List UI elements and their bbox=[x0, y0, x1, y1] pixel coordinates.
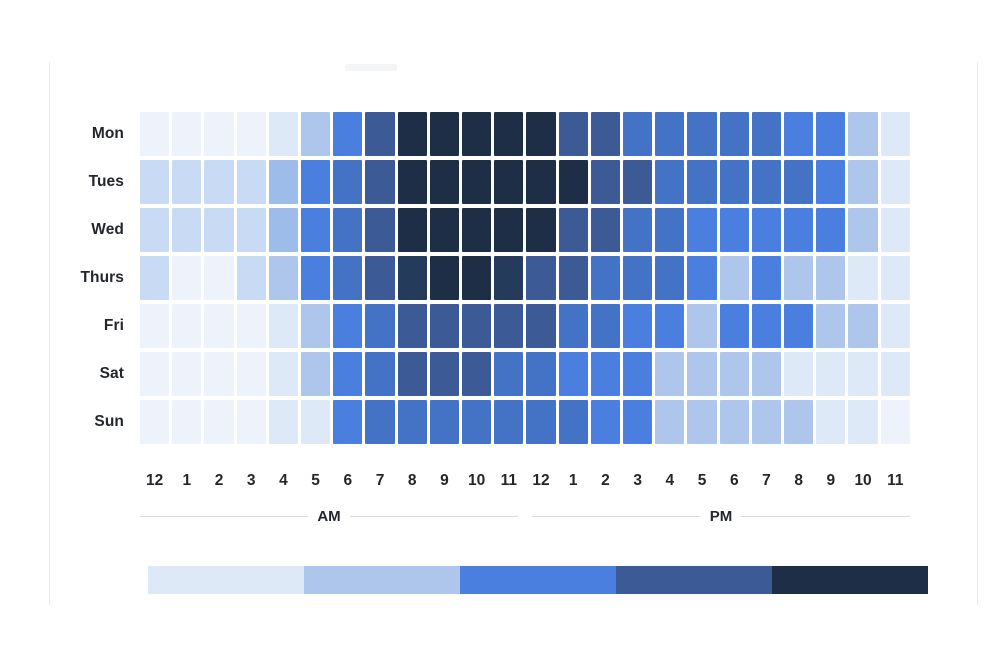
heatmap-cell[interactable] bbox=[784, 256, 813, 300]
heatmap-cell[interactable] bbox=[526, 304, 555, 348]
heatmap-cell[interactable] bbox=[269, 256, 298, 300]
heatmap-cell[interactable] bbox=[430, 400, 459, 444]
heatmap-cell[interactable] bbox=[494, 208, 523, 252]
hour-axis: 121234567891011121234567891011 bbox=[140, 472, 910, 490]
heatmap-cell[interactable] bbox=[559, 160, 588, 204]
heatmap-cell[interactable] bbox=[559, 304, 588, 348]
heatmap-cell[interactable] bbox=[848, 112, 877, 156]
legend-band-3 bbox=[460, 566, 616, 594]
heatmap-cell[interactable] bbox=[752, 112, 781, 156]
heatmap-cell[interactable] bbox=[655, 256, 684, 300]
hour-tick-label: 1 bbox=[172, 472, 201, 490]
day-label-mon: Mon bbox=[78, 126, 140, 142]
heatmap-cell[interactable] bbox=[720, 352, 749, 396]
heatmap-cell[interactable] bbox=[237, 256, 266, 300]
heatmap-cell[interactable] bbox=[655, 160, 684, 204]
heatmap-cell[interactable] bbox=[655, 304, 684, 348]
heatmap-cell[interactable] bbox=[172, 256, 201, 300]
heatmap-cell[interactable] bbox=[881, 304, 910, 348]
meridiem-group-pm: PM bbox=[532, 508, 910, 525]
heatmap-cell[interactable] bbox=[784, 160, 813, 204]
heatmap-cell[interactable] bbox=[237, 304, 266, 348]
heatmap-cell[interactable] bbox=[687, 304, 716, 348]
heatmap-cell[interactable] bbox=[462, 304, 491, 348]
heatmap-cell[interactable] bbox=[623, 112, 652, 156]
legend-band-4 bbox=[616, 566, 772, 594]
heatmap-cell[interactable] bbox=[591, 256, 620, 300]
heatmap-cell[interactable] bbox=[140, 160, 169, 204]
day-label-sun: Sun bbox=[78, 414, 140, 430]
heatmap-cell[interactable] bbox=[140, 352, 169, 396]
heatmap-cell[interactable] bbox=[591, 304, 620, 348]
heatmap-cell[interactable] bbox=[204, 400, 233, 444]
heatmap-cell[interactable] bbox=[204, 304, 233, 348]
legend-band-1 bbox=[148, 566, 304, 594]
heatmap-cell[interactable] bbox=[526, 160, 555, 204]
hour-tick-label: 4 bbox=[269, 472, 298, 490]
heatmap-cell[interactable] bbox=[204, 160, 233, 204]
heatmap-cell[interactable] bbox=[430, 352, 459, 396]
meridiem-rule-right bbox=[350, 516, 518, 517]
heatmap-cell[interactable] bbox=[204, 352, 233, 396]
heatmap-row-cells bbox=[140, 400, 910, 444]
day-label-fri: Fri bbox=[78, 318, 140, 334]
heatmap-row: Thurs bbox=[78, 254, 910, 302]
heatmap-cell[interactable] bbox=[301, 256, 330, 300]
day-label-tues: Tues bbox=[78, 174, 140, 190]
heatmap-row: Sun bbox=[78, 398, 910, 446]
heatmap-cell[interactable] bbox=[655, 208, 684, 252]
hour-tick-label: 10 bbox=[848, 472, 877, 490]
heatmap-cell[interactable] bbox=[333, 160, 362, 204]
hour-tick-label: 8 bbox=[398, 472, 427, 490]
hour-tick-label: 4 bbox=[655, 472, 684, 490]
heatmap-cell[interactable] bbox=[398, 160, 427, 204]
heatmap-cell[interactable] bbox=[301, 208, 330, 252]
heatmap-cell[interactable] bbox=[848, 160, 877, 204]
heatmap-cell[interactable] bbox=[623, 352, 652, 396]
heatmap-cell[interactable] bbox=[333, 352, 362, 396]
hour-tick-label: 8 bbox=[784, 472, 813, 490]
heatmap-cell[interactable] bbox=[301, 352, 330, 396]
color-scale-legend bbox=[148, 566, 928, 594]
heatmap-cell[interactable] bbox=[623, 304, 652, 348]
heatmap-cell[interactable] bbox=[140, 400, 169, 444]
heatmap-cell[interactable] bbox=[720, 160, 749, 204]
heatmap-cell[interactable] bbox=[494, 256, 523, 300]
meridiem-group-am: AM bbox=[140, 508, 518, 525]
heatmap-cell[interactable] bbox=[333, 256, 362, 300]
heatmap-cell[interactable] bbox=[559, 208, 588, 252]
heatmap-cell[interactable] bbox=[365, 256, 394, 300]
heatmap-cell[interactable] bbox=[816, 112, 845, 156]
hour-tick-label: 9 bbox=[430, 472, 459, 490]
heatmap-cell[interactable] bbox=[365, 112, 394, 156]
heatmap-cell[interactable] bbox=[559, 352, 588, 396]
heatmap-row: Sat bbox=[78, 350, 910, 398]
hour-tick-label: 3 bbox=[623, 472, 652, 490]
heatmap-cell[interactable] bbox=[172, 304, 201, 348]
heatmap-cell[interactable] bbox=[848, 352, 877, 396]
heatmap-cell[interactable] bbox=[398, 304, 427, 348]
heatmap-cell[interactable] bbox=[881, 352, 910, 396]
heatmap-cell[interactable] bbox=[269, 112, 298, 156]
heatmap-cell[interactable] bbox=[398, 112, 427, 156]
heatmap-cell[interactable] bbox=[494, 112, 523, 156]
heatmap-cell[interactable] bbox=[752, 352, 781, 396]
heatmap-cell[interactable] bbox=[784, 400, 813, 444]
heatmap-cell[interactable] bbox=[559, 256, 588, 300]
heatmap-cell[interactable] bbox=[301, 400, 330, 444]
meridiem-rule-right bbox=[741, 516, 910, 517]
heatmap-cell[interactable] bbox=[623, 400, 652, 444]
heatmap-cell[interactable] bbox=[848, 304, 877, 348]
heatmap-row-cells bbox=[140, 256, 910, 300]
heatmap-cell[interactable] bbox=[784, 304, 813, 348]
heatmap-cell[interactable] bbox=[591, 352, 620, 396]
heatmap-cell[interactable] bbox=[172, 160, 201, 204]
heatmap-cell[interactable] bbox=[398, 208, 427, 252]
heatmap-cell[interactable] bbox=[720, 208, 749, 252]
heatmap-cell[interactable] bbox=[687, 400, 716, 444]
heatmap-cell[interactable] bbox=[333, 304, 362, 348]
heatmap-cell[interactable] bbox=[526, 256, 555, 300]
heatmap-cell[interactable] bbox=[494, 304, 523, 348]
day-label-sat: Sat bbox=[78, 366, 140, 382]
heatmap-cell[interactable] bbox=[237, 208, 266, 252]
heatmap-cell[interactable] bbox=[784, 352, 813, 396]
heatmap-cell[interactable] bbox=[655, 112, 684, 156]
heatmap-cell[interactable] bbox=[269, 400, 298, 444]
heatmap-cell[interactable] bbox=[301, 304, 330, 348]
heatmap-cell[interactable] bbox=[398, 256, 427, 300]
heatmap-cell[interactable] bbox=[140, 256, 169, 300]
heatmap-grid: MonTuesWedThursFriSatSun bbox=[78, 110, 910, 446]
day-label-wed: Wed bbox=[78, 222, 140, 238]
heatmap-cell[interactable] bbox=[462, 352, 491, 396]
heatmap-page: MonTuesWedThursFriSatSun 121234567891011… bbox=[0, 0, 1000, 670]
hour-tick-label: 11 bbox=[494, 472, 523, 490]
meridiem-rule-left bbox=[140, 516, 308, 517]
meridiem-axis: AM PM bbox=[140, 508, 910, 525]
heatmap-cell[interactable] bbox=[687, 208, 716, 252]
heatmap-cell[interactable] bbox=[269, 352, 298, 396]
heatmap-cell[interactable] bbox=[816, 400, 845, 444]
heatmap-cell[interactable] bbox=[752, 160, 781, 204]
heatmap-cell[interactable] bbox=[237, 160, 266, 204]
heatmap-cell[interactable] bbox=[559, 400, 588, 444]
hour-tick-label: 6 bbox=[720, 472, 749, 490]
hour-tick-label: 2 bbox=[204, 472, 233, 490]
heatmap-cell[interactable] bbox=[269, 208, 298, 252]
heatmap-row-cells bbox=[140, 208, 910, 252]
heatmap-cell[interactable] bbox=[687, 352, 716, 396]
heatmap-cell[interactable] bbox=[720, 112, 749, 156]
heatmap-cell[interactable] bbox=[881, 400, 910, 444]
heatmap-cell[interactable] bbox=[881, 112, 910, 156]
heatmap-cell[interactable] bbox=[816, 160, 845, 204]
heatmap-cell[interactable] bbox=[462, 256, 491, 300]
heatmap-cell[interactable] bbox=[462, 208, 491, 252]
heatmap-cell[interactable] bbox=[237, 352, 266, 396]
heatmap-cell[interactable] bbox=[398, 400, 427, 444]
heatmap-cell[interactable] bbox=[526, 112, 555, 156]
hour-tick-label: 3 bbox=[237, 472, 266, 490]
heatmap-cell[interactable] bbox=[687, 160, 716, 204]
heatmap-cell[interactable] bbox=[848, 256, 877, 300]
heatmap-cell[interactable] bbox=[333, 112, 362, 156]
heatmap-cell[interactable] bbox=[301, 160, 330, 204]
day-label-thurs: Thurs bbox=[78, 270, 140, 286]
heatmap-cell[interactable] bbox=[784, 208, 813, 252]
hour-tick-label: 11 bbox=[881, 472, 910, 490]
heatmap-cell[interactable] bbox=[816, 208, 845, 252]
heatmap-cell[interactable] bbox=[430, 256, 459, 300]
heatmap-cell[interactable] bbox=[365, 352, 394, 396]
heatmap-cell[interactable] bbox=[623, 208, 652, 252]
heatmap-cell[interactable] bbox=[559, 112, 588, 156]
heatmap-cell[interactable] bbox=[752, 208, 781, 252]
heatmap-cell[interactable] bbox=[269, 160, 298, 204]
hour-tick-label: 10 bbox=[462, 472, 491, 490]
heatmap-cell[interactable] bbox=[333, 400, 362, 444]
heatmap-cell[interactable] bbox=[301, 112, 330, 156]
heatmap-cell[interactable] bbox=[752, 400, 781, 444]
heatmap-cell[interactable] bbox=[526, 352, 555, 396]
hour-tick-label: 2 bbox=[591, 472, 620, 490]
hour-tick-label: 5 bbox=[687, 472, 716, 490]
heatmap-cell[interactable] bbox=[172, 112, 201, 156]
heatmap-cell[interactable] bbox=[140, 208, 169, 252]
heatmap-cell[interactable] bbox=[365, 304, 394, 348]
heatmap-cell[interactable] bbox=[687, 112, 716, 156]
hour-tick-label: 7 bbox=[365, 472, 394, 490]
heatmap-cell[interactable] bbox=[591, 160, 620, 204]
heatmap-cell[interactable] bbox=[784, 112, 813, 156]
heatmap-cell[interactable] bbox=[816, 256, 845, 300]
activity-heatmap-chart: MonTuesWedThursFriSatSun 121234567891011… bbox=[0, 0, 1000, 670]
heatmap-cell[interactable] bbox=[172, 352, 201, 396]
heatmap-row-cells bbox=[140, 304, 910, 348]
heatmap-cell[interactable] bbox=[494, 352, 523, 396]
heatmap-cell[interactable] bbox=[462, 112, 491, 156]
heatmap-cell[interactable] bbox=[591, 112, 620, 156]
hour-tick-label: 12 bbox=[140, 472, 169, 490]
heatmap-row: Mon bbox=[78, 110, 910, 158]
heatmap-cell[interactable] bbox=[430, 112, 459, 156]
heatmap-cell[interactable] bbox=[269, 304, 298, 348]
heatmap-cell[interactable] bbox=[591, 208, 620, 252]
heatmap-cell[interactable] bbox=[462, 400, 491, 444]
heatmap-row: Tues bbox=[78, 158, 910, 206]
heatmap-cell[interactable] bbox=[430, 208, 459, 252]
heatmap-cell[interactable] bbox=[687, 256, 716, 300]
heatmap-row-cells bbox=[140, 112, 910, 156]
heatmap-cell[interactable] bbox=[172, 400, 201, 444]
heatmap-cell[interactable] bbox=[623, 256, 652, 300]
heatmap-cell[interactable] bbox=[655, 400, 684, 444]
heatmap-cell[interactable] bbox=[752, 256, 781, 300]
heatmap-cell[interactable] bbox=[365, 400, 394, 444]
heatmap-cell[interactable] bbox=[526, 400, 555, 444]
legend-band-5 bbox=[772, 566, 928, 594]
heatmap-cell[interactable] bbox=[494, 400, 523, 444]
hour-tick-label: 7 bbox=[752, 472, 781, 490]
heatmap-cell[interactable] bbox=[462, 160, 491, 204]
legend-band-2 bbox=[304, 566, 460, 594]
heatmap-cell[interactable] bbox=[848, 400, 877, 444]
heatmap-cell[interactable] bbox=[720, 304, 749, 348]
heatmap-cell[interactable] bbox=[881, 208, 910, 252]
heatmap-cell[interactable] bbox=[430, 304, 459, 348]
meridiem-label-pm: PM bbox=[710, 508, 733, 525]
heatmap-cell[interactable] bbox=[140, 304, 169, 348]
hour-tick-label: 9 bbox=[816, 472, 845, 490]
heatmap-cell[interactable] bbox=[881, 160, 910, 204]
meridiem-label-am: AM bbox=[317, 508, 340, 525]
heatmap-cell[interactable] bbox=[752, 304, 781, 348]
heatmap-cell[interactable] bbox=[204, 208, 233, 252]
heatmap-cell[interactable] bbox=[365, 208, 394, 252]
heatmap-row-cells bbox=[140, 352, 910, 396]
heatmap-cell[interactable] bbox=[720, 256, 749, 300]
heatmap-row-cells bbox=[140, 160, 910, 204]
heatmap-cell[interactable] bbox=[237, 112, 266, 156]
heatmap-cell[interactable] bbox=[881, 256, 910, 300]
heatmap-cell[interactable] bbox=[526, 208, 555, 252]
meridiem-rule-left bbox=[532, 516, 701, 517]
heatmap-cell[interactable] bbox=[365, 160, 394, 204]
heatmap-cell[interactable] bbox=[204, 256, 233, 300]
heatmap-cell[interactable] bbox=[591, 400, 620, 444]
hour-tick-label: 6 bbox=[333, 472, 362, 490]
heatmap-cell[interactable] bbox=[848, 208, 877, 252]
hour-tick-label: 5 bbox=[301, 472, 330, 490]
heatmap-row: Fri bbox=[78, 302, 910, 350]
heatmap-cell[interactable] bbox=[172, 208, 201, 252]
heatmap-cell[interactable] bbox=[494, 160, 523, 204]
heatmap-cell[interactable] bbox=[204, 112, 233, 156]
heatmap-cell[interactable] bbox=[720, 400, 749, 444]
heatmap-cell[interactable] bbox=[623, 160, 652, 204]
heatmap-cell[interactable] bbox=[140, 112, 169, 156]
heatmap-cell[interactable] bbox=[333, 208, 362, 252]
hour-tick-label: 1 bbox=[559, 472, 588, 490]
hour-tick-label: 12 bbox=[526, 472, 555, 490]
heatmap-cell[interactable] bbox=[398, 352, 427, 396]
heatmap-cell[interactable] bbox=[816, 304, 845, 348]
heatmap-cell[interactable] bbox=[816, 352, 845, 396]
heatmap-row: Wed bbox=[78, 206, 910, 254]
heatmap-cell[interactable] bbox=[430, 160, 459, 204]
heatmap-cell[interactable] bbox=[655, 352, 684, 396]
heatmap-cell[interactable] bbox=[237, 400, 266, 444]
